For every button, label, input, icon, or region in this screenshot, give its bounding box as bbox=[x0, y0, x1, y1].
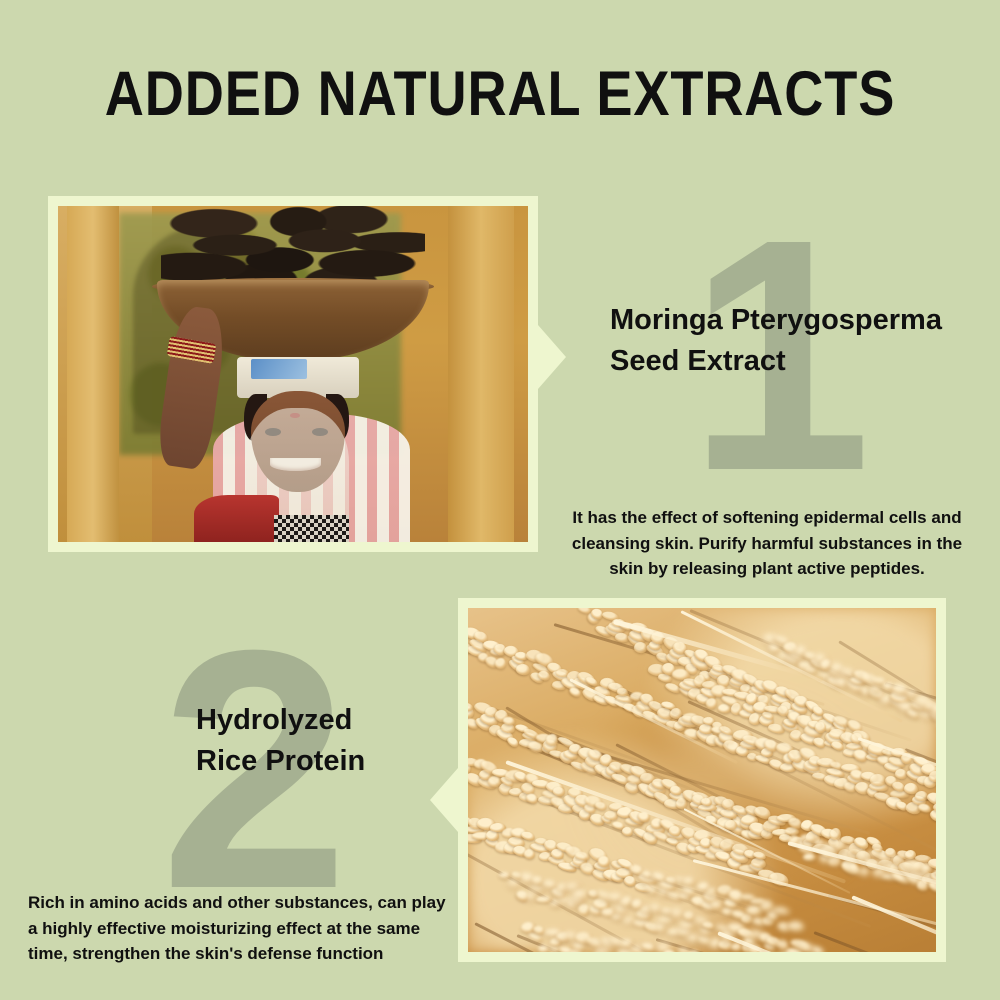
callout-pointer-right-icon bbox=[538, 325, 566, 389]
sandstone-pillar-left bbox=[67, 206, 119, 542]
ingredient-1-title-line-1: Moringa Pterygosperma bbox=[610, 300, 990, 341]
ingredient-1-description: It has the effect of softening epidermal… bbox=[556, 505, 978, 582]
page-title: ADDED NATURAL EXTRACTS bbox=[70, 58, 930, 130]
moringa-scene bbox=[58, 206, 528, 542]
rice-scene bbox=[468, 608, 936, 952]
rice-grain bbox=[844, 845, 856, 856]
ingredient-1-title-line-2: Seed Extract bbox=[610, 341, 990, 382]
head-cushion-blue-stripe bbox=[251, 359, 307, 379]
red-sleeve-shoulder bbox=[194, 495, 279, 542]
infographic-poster: ADDED NATURAL EXTRACTS 1 bbox=[0, 0, 1000, 1000]
rice-photo bbox=[468, 608, 936, 952]
callout-pointer-left-icon bbox=[430, 768, 458, 832]
rice-grain bbox=[803, 852, 816, 860]
sandstone-pillar-right bbox=[448, 206, 514, 542]
ingredient-1-title: Moringa Pterygosperma Seed Extract bbox=[610, 300, 990, 382]
ingredient-2-description: Rich in amino acids and other substances… bbox=[28, 890, 448, 967]
ingredient-2-title-line-1: Hydrolyzed bbox=[196, 700, 496, 741]
ingredient-2-photo-frame bbox=[458, 598, 946, 962]
patterned-bodice bbox=[274, 515, 349, 542]
ingredient-1-photo-frame bbox=[48, 196, 538, 552]
moringa-photo bbox=[58, 206, 528, 542]
